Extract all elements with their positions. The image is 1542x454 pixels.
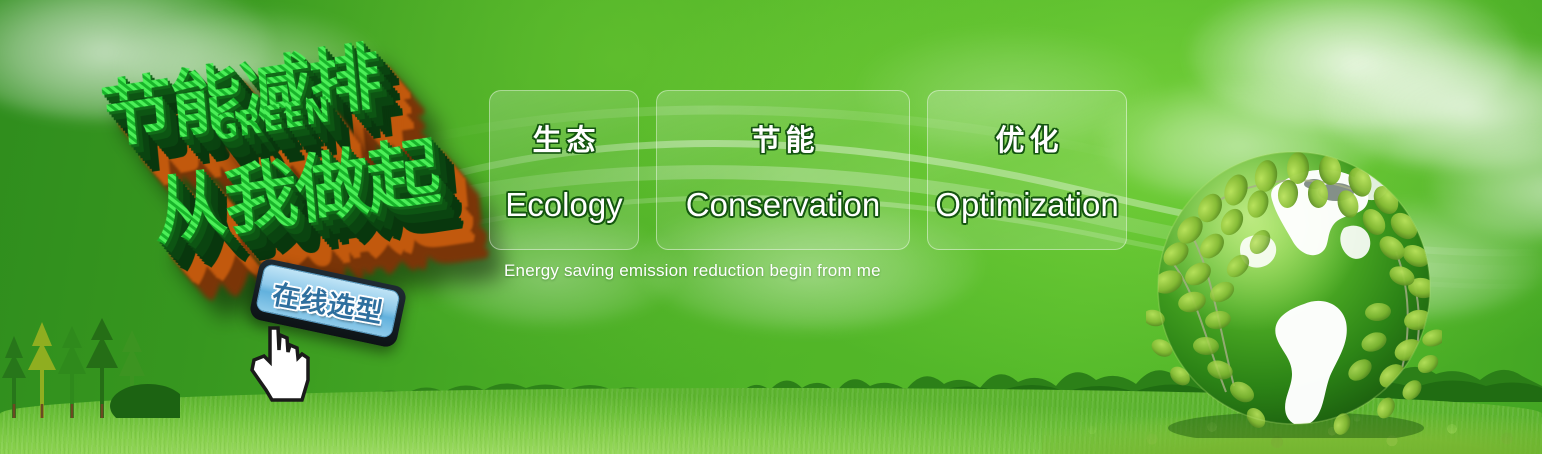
feature-card-title-zh: 优化	[990, 117, 1063, 159]
cloud-icon	[1430, 130, 1542, 240]
feature-card-ecology[interactable]: 生态 Ecology	[489, 90, 639, 250]
feature-card-conservation[interactable]: 节能 Conservation	[656, 90, 910, 250]
feature-card-title-en: Optimization	[935, 186, 1118, 224]
feature-card-title-en: Conservation	[686, 186, 880, 224]
leafy-green-earth-globe	[1146, 142, 1442, 438]
green-energy-banner: 节能减排 GREEN 从我做起 在线选型 生态 Ecology 节能 Conse…	[0, 0, 1542, 454]
headline-green-word: GREEN	[211, 90, 332, 150]
cloud-icon	[0, 0, 270, 120]
feature-card-title-zh: 生态	[527, 117, 600, 159]
hand-pointer-cursor-icon	[240, 322, 318, 406]
feature-card-optimization[interactable]: 优化 Optimization	[927, 90, 1127, 250]
feature-card-group: 生态 Ecology 节能 Conservation 优化 Optimizati…	[489, 90, 1127, 250]
cloud-icon	[120, 10, 380, 120]
headline-line-2: 从我做起	[147, 111, 442, 260]
headline-line-1: 节能减排	[96, 17, 383, 163]
feature-card-title-zh: 节能	[746, 117, 819, 159]
feature-card-title-en: Ecology	[505, 186, 622, 224]
cloud-icon	[1190, 0, 1520, 130]
headline-3d-artwork: 节能减排 GREEN 从我做起	[85, 9, 507, 296]
tagline-text: Energy saving emission reduction begin f…	[504, 261, 881, 281]
